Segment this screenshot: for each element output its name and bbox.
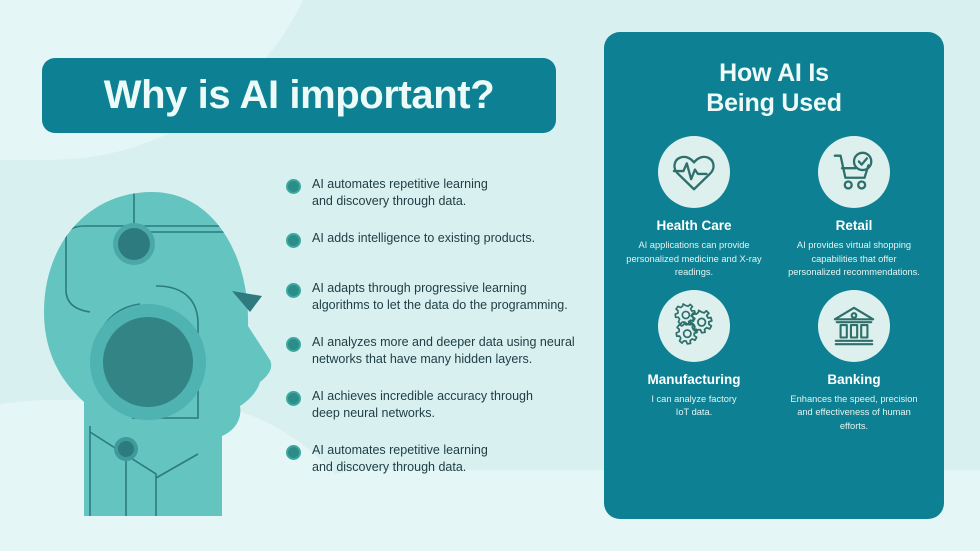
- page-title: Why is AI important?: [104, 73, 495, 118]
- usage-card-title: Retail: [780, 218, 928, 233]
- shopping-cart-check-icon: [818, 136, 890, 208]
- usage-card-banking: Banking Enhances the speed, precision an…: [774, 290, 934, 434]
- usage-card-title: Health Care: [620, 218, 768, 233]
- bullet-dot-icon: [286, 337, 301, 352]
- usage-panel: How AI Is Being Used Health Care AI appl…: [604, 32, 944, 519]
- bullet-dot-icon: [286, 233, 301, 248]
- bullet-dot-icon: [286, 391, 301, 406]
- list-item: AI automates repetitive learning and dis…: [286, 176, 586, 210]
- bullet-dot-icon: [286, 445, 301, 460]
- main-title-banner: Why is AI important?: [42, 58, 556, 133]
- infographic-slide: Why is AI important?: [0, 0, 980, 551]
- list-item-label: AI automates repetitive learning and dis…: [312, 176, 488, 210]
- list-item-label: AI achieves incredible accuracy through …: [312, 388, 533, 422]
- gears-icon: [658, 290, 730, 362]
- usage-card-description: I can analyze factory IoT data.: [620, 393, 768, 420]
- benefits-list: AI automates repetitive learning and dis…: [286, 176, 586, 496]
- list-item: AI automates repetitive learning and dis…: [286, 442, 586, 476]
- list-item: AI adds intelligence to existing product…: [286, 230, 586, 260]
- usage-card-health-care: Health Care AI applications can provide …: [614, 136, 774, 280]
- usage-card-grid: Health Care AI applications can provide …: [604, 118, 944, 433]
- usage-card-description: AI applications can provide personalized…: [620, 239, 768, 280]
- list-item: AI adapts through progressive learning a…: [286, 280, 586, 314]
- list-item-label: AI adapts through progressive learning a…: [312, 280, 568, 314]
- usage-card-description: Enhances the speed, precision and effect…: [780, 393, 928, 434]
- list-item: AI analyzes more and deeper data using n…: [286, 334, 586, 368]
- heart-pulse-icon: [658, 136, 730, 208]
- panel-heading: How AI Is Being Used: [604, 32, 944, 118]
- list-item-label: AI adds intelligence to existing product…: [312, 230, 535, 247]
- usage-card-title: Manufacturing: [620, 372, 768, 387]
- usage-card-title: Banking: [780, 372, 928, 387]
- usage-card-retail: Retail AI provides virtual shopping capa…: [774, 136, 934, 280]
- list-item: AI achieves incredible accuracy through …: [286, 388, 586, 422]
- bullet-dot-icon: [286, 283, 301, 298]
- robot-head-illustration: [36, 186, 316, 516]
- bank-building-icon: [818, 290, 890, 362]
- bullet-dot-icon: [286, 179, 301, 194]
- usage-card-manufacturing: Manufacturing I can analyze factory IoT …: [614, 290, 774, 434]
- list-item-label: AI automates repetitive learning and dis…: [312, 442, 488, 476]
- usage-card-description: AI provides virtual shopping capabilitie…: [780, 239, 928, 280]
- list-item-label: AI analyzes more and deeper data using n…: [312, 334, 575, 368]
